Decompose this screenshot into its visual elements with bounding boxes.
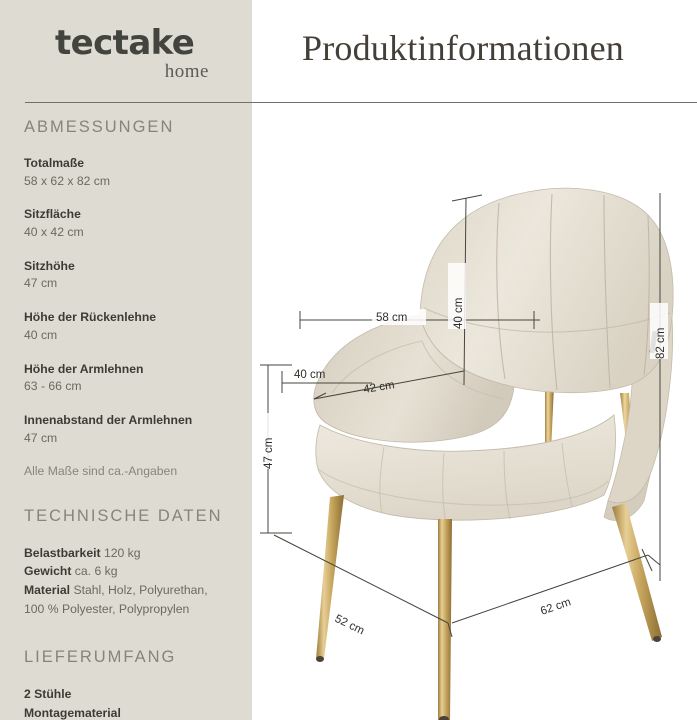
spec-value: 40 x 42 cm (24, 224, 242, 242)
brand-logo: tectake home (55, 26, 215, 81)
spec-material: Material Stahl, Holz, Polyurethan, (24, 581, 242, 600)
sidebar: ABMESSUNGEN Totalmaße 58 x 62 x 82 cm Si… (24, 118, 242, 720)
dim-label-seat-width: 40 cm (294, 369, 325, 381)
spec-label: Innenabstand der Armlehnen (24, 412, 242, 430)
spec-label: Höhe der Armlehnen (24, 361, 242, 379)
delivery-item: Montagematerial (24, 704, 242, 720)
page-title: Produktinformationen (302, 27, 624, 69)
brand-sub-wordmark: home (55, 62, 215, 81)
spec-total-dimensions: Totalmaße 58 x 62 x 82 cm (24, 155, 242, 190)
section-heading-delivery: LIEFERUMFANG (24, 648, 242, 667)
spec-load-capacity: Belastbarkeit 120 kg (24, 544, 242, 563)
spec-label: Höhe der Rückenlehne (24, 309, 242, 327)
section-heading-dimensions: ABMESSUNGEN (24, 118, 242, 137)
dim-footprint-front (274, 535, 452, 637)
spec-value: 40 cm (24, 327, 242, 345)
delivery-list: 2 Stühle Montagematerial Montageanleitun… (24, 685, 242, 720)
brand-wordmark: tectake (55, 26, 215, 60)
spec-armrest-inner-distance: Innenabstand der Armlehnen 47 cm (24, 412, 242, 447)
spec-load-value: 120 kg (104, 546, 141, 560)
spec-seat-surface: Sitzfläche 40 x 42 cm (24, 206, 242, 241)
delivery-item: 2 Stühle (24, 685, 242, 704)
dim-label-backrest-height: 40 cm (453, 298, 465, 329)
section-heading-technical: TECHNISCHE DATEN (24, 507, 242, 526)
spec-weight-value: ca. 6 kg (75, 564, 118, 578)
dim-label-footprint-side: 62 cm (539, 596, 573, 618)
spec-value: 58 x 62 x 82 cm (24, 173, 242, 191)
spec-weight-label: Gewicht (24, 564, 71, 578)
dimensions-disclaimer: Alle Maße sind ca.-Angaben (24, 463, 242, 481)
spec-value: 47 cm (24, 430, 242, 448)
spec-seat-height: Sitzhöhe 47 cm (24, 258, 242, 293)
spec-material-value: Stahl, Holz, Polyurethan, (73, 583, 207, 597)
spec-armrest-height: Höhe der Armlehnen 63 - 66 cm (24, 361, 242, 396)
dim-label-total-width: 58 cm (376, 312, 407, 324)
chair-dimension-diagram: 40 cm 58 cm 42 cm 40 cm 47 cm 82 cm 52 c… (252, 103, 697, 720)
chair-leg-front-right (612, 503, 662, 642)
spec-backrest-height: Höhe der Rückenlehne 40 cm (24, 309, 242, 344)
chair-illustration (314, 188, 673, 720)
spec-label: Totalmaße (24, 155, 242, 173)
spec-weight: Gewicht ca. 6 kg (24, 562, 242, 581)
chair-leg-front-left (316, 495, 344, 662)
spec-material-value-line2: 100 % Polyester, Polypropylen (24, 600, 242, 619)
spec-label: Sitzhöhe (24, 258, 242, 276)
spec-material-label: Material (24, 583, 70, 597)
product-info-sheet: tectake home Produktinformationen ABMESS… (0, 0, 697, 720)
spec-value: 47 cm (24, 275, 242, 293)
dim-label-footprint-front: 52 cm (333, 613, 366, 638)
dim-label-seat-height: 47 cm (263, 438, 275, 469)
dim-label-total-height: 82 cm (655, 328, 667, 359)
spec-value: 63 - 66 cm (24, 378, 242, 396)
spec-label: Sitzfläche (24, 206, 242, 224)
spec-load-label: Belastbarkeit (24, 546, 101, 560)
technical-specs: Belastbarkeit 120 kg Gewicht ca. 6 kg Ma… (24, 544, 242, 618)
